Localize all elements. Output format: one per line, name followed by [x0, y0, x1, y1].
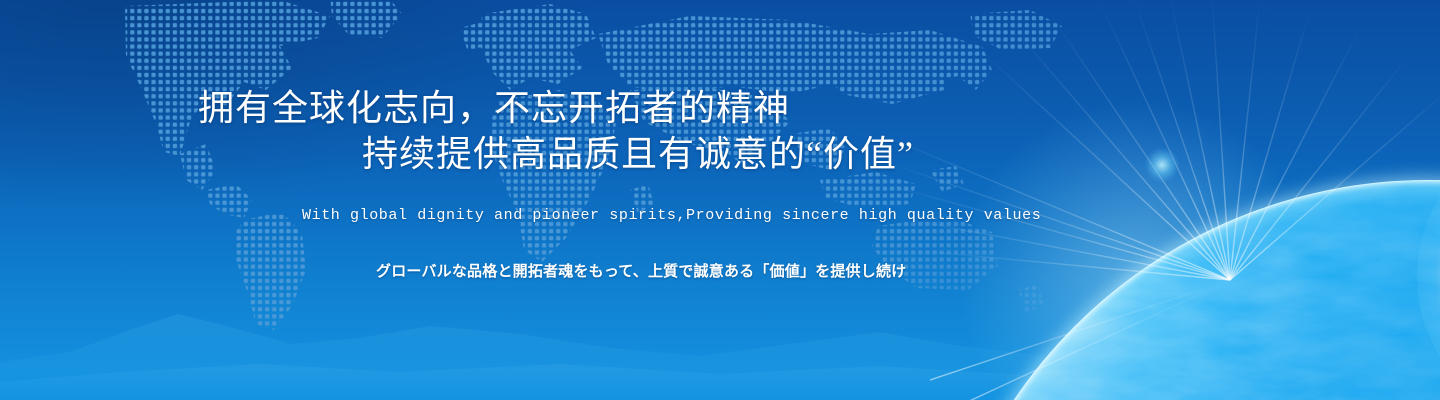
- banner-copy: 拥有全球化志向，不忘开拓者的精神 持续提供高品质且有诚意的“价值” With g…: [0, 0, 1100, 400]
- sun-glow-outer: [1417, 127, 1440, 400]
- hero-banner: 拥有全球化志向，不忘开拓者的精神 持续提供高品质且有诚意的“价值” With g…: [0, 0, 1440, 400]
- subtitle-english: With global dignity and pioneer spirits,…: [302, 207, 1041, 224]
- headline-line-1: 拥有全球化志向，不忘开拓者的精神: [198, 90, 790, 126]
- headline-line-2: 持续提供高品质且有诚意的“价值”: [362, 136, 914, 172]
- subtitle-japanese: グローバルな品格と開拓者魂をもって、上質で誠意ある「価値」を提供し続け: [376, 260, 906, 281]
- lens-flare-dot: [1145, 148, 1179, 182]
